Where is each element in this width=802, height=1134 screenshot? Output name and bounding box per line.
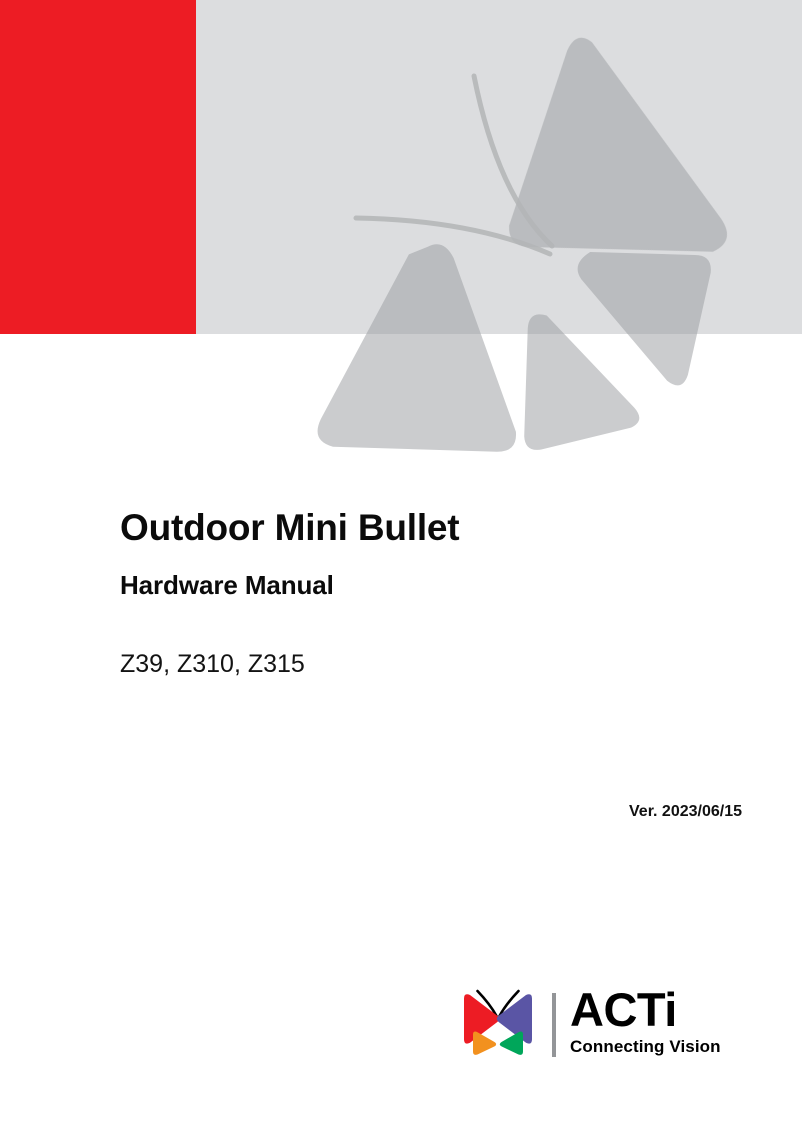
model-list: Z39, Z310, Z315 bbox=[120, 649, 740, 679]
logo-wordmark: ACTi Connecting Vision bbox=[570, 986, 740, 1062]
acti-butterfly-icon bbox=[452, 986, 544, 1058]
acti-logo: ACTi Connecting Vision bbox=[452, 986, 740, 1066]
cover-page: Outdoor Mini Bullet Hardware Manual Z39,… bbox=[0, 0, 802, 1134]
page-title: Outdoor Mini Bullet bbox=[120, 505, 740, 550]
page-subtitle: Hardware Manual bbox=[120, 570, 740, 601]
title-block: Outdoor Mini Bullet Hardware Manual Z39,… bbox=[120, 505, 740, 679]
header-banner bbox=[0, 0, 802, 334]
header-banner-red-block bbox=[0, 0, 196, 334]
brand-name: ACTi bbox=[570, 986, 740, 1033]
version-label: Ver. 2023/06/15 bbox=[0, 803, 742, 821]
logo-divider bbox=[552, 993, 556, 1057]
brand-tagline: Connecting Vision bbox=[570, 1038, 740, 1055]
